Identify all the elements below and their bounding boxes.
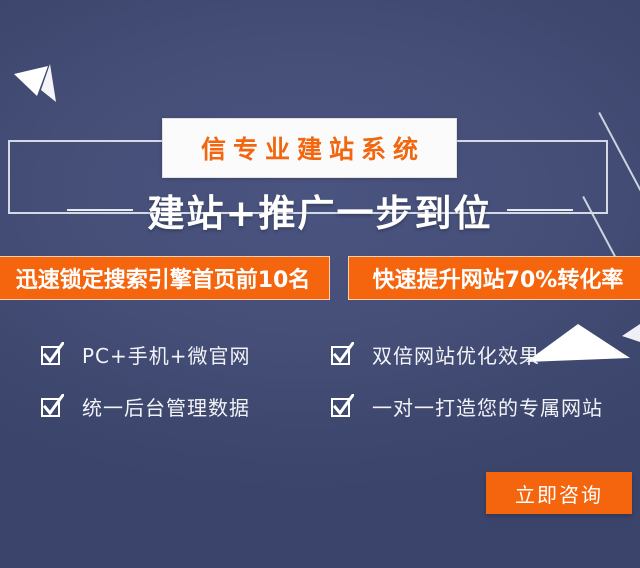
checkbox-checked-icon [40, 394, 64, 418]
consult-now-button[interactable]: 立即咨询 [486, 472, 632, 514]
highlight-bar-left-text: 迅速锁定搜索引擎首页前10名 [16, 262, 311, 294]
highlight-bar-right: 快速提升网站70%转化率 [348, 256, 640, 300]
highlight-bar-right-text: 快速提升网站70%转化率 [373, 262, 624, 294]
page-title: 建站+推广一步到位 [147, 183, 492, 237]
consult-now-label: 立即咨询 [515, 479, 603, 508]
highlight-bars: 迅速锁定搜索引擎首页前10名 快速提升网站70%转化率 [0, 256, 640, 300]
paper-plane-icon [14, 62, 72, 112]
feature-item: PC+手机+微官网 [40, 334, 251, 374]
promo-banner: 信专业建站系统 建站+推广一步到位 迅速锁定搜索引擎首页前10名 快速提升网站7… [0, 0, 640, 568]
subtitle-label-box: 信专业建站系统 [162, 118, 457, 178]
checkbox-checked-icon [330, 342, 354, 366]
feature-label: 双倍网站优化效果 [372, 340, 540, 369]
feature-list: PC+手机+微官网 双倍网站优化效果 统一后台管理数据 一对一打造您的专属网站 [0, 330, 640, 440]
feature-label: PC+手机+微官网 [82, 340, 251, 369]
subtitle-text: 信专业建站系统 [194, 130, 425, 166]
feature-item: 统一后台管理数据 [40, 386, 250, 426]
checkbox-checked-icon [330, 394, 354, 418]
headline-rule-right [507, 209, 573, 211]
feature-item: 一对一打造您的专属网站 [330, 386, 603, 426]
feature-label: 统一后台管理数据 [82, 392, 250, 421]
feature-item: 双倍网站优化效果 [330, 334, 540, 374]
headline-rule-left [67, 209, 133, 211]
checkbox-checked-icon [40, 342, 64, 366]
feature-label: 一对一打造您的专属网站 [372, 392, 603, 421]
headline-row: 建站+推广一步到位 [0, 182, 640, 238]
highlight-bar-left: 迅速锁定搜索引擎首页前10名 [0, 256, 330, 300]
